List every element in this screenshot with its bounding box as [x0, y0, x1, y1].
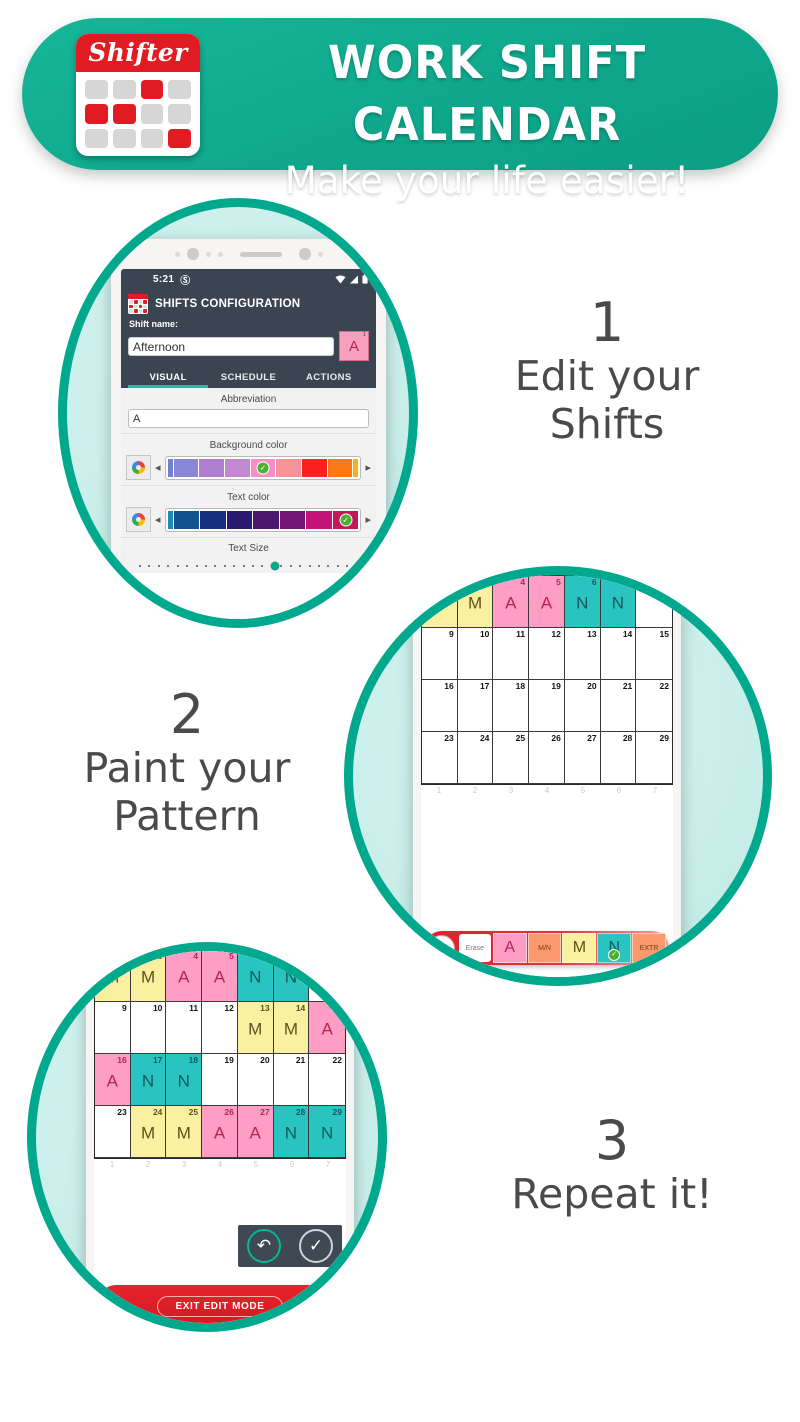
swatch[interactable]: [280, 511, 306, 529]
calendar-shift-abbr: A: [493, 593, 528, 613]
calendar-day-cell[interactable]: 26: [529, 732, 565, 784]
app-logo: Shifter: [76, 34, 200, 156]
calendar-shift-abbr: A: [309, 1019, 345, 1039]
palette-item-label: EXTR: [640, 945, 659, 952]
calendar-shift-abbr: A: [166, 967, 201, 987]
check-icon[interactable]: ✓: [299, 1229, 333, 1263]
text-color-label: Text color: [121, 492, 376, 503]
calendar-weekday-index: 1: [421, 786, 457, 795]
phone-frame-3: 2M3M4A5A6N7N8910111213M14M15A16A17N18N19…: [86, 942, 354, 1332]
calendar-day-number: 3: [158, 951, 163, 961]
calendar-weekday-index: 2: [130, 1160, 166, 1169]
calendar-shift-abbr: N: [238, 967, 273, 987]
scroll-left-icon[interactable]: ◂: [155, 513, 161, 526]
calendar-day-number: 19: [551, 681, 560, 691]
palette-item-label: A: [504, 939, 515, 957]
calendar-day-cell[interactable]: 8: [309, 950, 345, 1002]
calendar-day-number: 12: [551, 629, 560, 639]
chevron-down-icon[interactable]: ▾: [428, 935, 455, 962]
calendar-shift-abbr: N: [601, 593, 636, 613]
logo-calendar-grid: [76, 72, 200, 156]
calendar-day-cell[interactable]: 29N: [309, 1106, 345, 1158]
calendar-day-number: 10: [480, 629, 489, 639]
calendar-day-number: 22: [660, 681, 669, 691]
calendar-day-cell[interactable]: 15: [636, 628, 672, 680]
calendar-day-cell[interactable]: 27A: [238, 1106, 274, 1158]
sensor-dot-icon: [175, 252, 180, 257]
calendar-shift-abbr: M: [274, 1019, 309, 1039]
calendar-shift-abbr: A: [202, 1123, 237, 1143]
calendar-day-cell[interactable]: 16: [422, 680, 458, 732]
calendar-day-cell[interactable]: 7N: [274, 950, 310, 1002]
calendar-day-number: 23: [117, 1107, 126, 1117]
calendar-day-number: 23: [444, 733, 453, 743]
step-text-line2: Shifts: [452, 400, 762, 448]
calendar-day-number: 16: [444, 681, 453, 691]
calendar-day-cell[interactable]: 21: [274, 1054, 310, 1106]
calendar-day-number: 14: [296, 1003, 305, 1013]
calendar-day-number: 5: [229, 951, 234, 961]
calendar-weekday-index: 7: [310, 1160, 346, 1169]
calendar-day-cell[interactable]: 26A: [202, 1106, 238, 1158]
calendar-day-cell[interactable]: 12: [202, 1002, 238, 1054]
calendar-day-number: 13: [260, 1003, 269, 1013]
logo-cell: [141, 104, 164, 123]
calendar-day-number: 27: [587, 733, 596, 743]
swatch[interactable]: [306, 511, 332, 529]
calendar-day-number: 4: [520, 577, 525, 587]
calendar-day-cell[interactable]: 9: [422, 628, 458, 680]
phone-frame-2: 2M3M4A5A6N7N8910111213141516171819202122…: [413, 567, 681, 986]
calendar-day-number: 25: [189, 1107, 198, 1117]
calendar-week-footer-3: 1234567: [94, 1159, 346, 1169]
calendar-day-number: 19: [224, 1055, 233, 1065]
calendar-day-cell[interactable]: 17N: [131, 1054, 167, 1106]
text-size-slider[interactable]: [139, 561, 358, 570]
calendar-weekday-index: 6: [274, 1160, 310, 1169]
calendar-day-number: 17: [480, 681, 489, 691]
calendar-day-cell[interactable]: 6N: [565, 576, 601, 628]
app-logo-icon-grid: [128, 299, 148, 314]
calendar-day-number: 28: [296, 1107, 305, 1117]
calendar-day-number: 20: [587, 681, 596, 691]
calendar-day-number: 5: [556, 577, 561, 587]
background-swatch-strip[interactable]: ✓: [165, 456, 362, 480]
app-bar-row: SHIFTS CONFIGURATION: [128, 294, 369, 314]
calendar-day-number: 12: [224, 1003, 233, 1013]
calendar-day-number: 21: [296, 1055, 305, 1065]
abbreviation-input[interactable]: A: [128, 409, 369, 428]
calendar-day-number: 18: [516, 681, 525, 691]
swatch[interactable]: [199, 459, 224, 477]
check-icon: ✓: [256, 461, 269, 474]
swatch[interactable]: [174, 459, 199, 477]
calendar-day-number: 7: [301, 951, 306, 961]
exit-edit-mode-button[interactable]: EXIT EDIT MODE: [98, 1285, 342, 1327]
tab-schedule[interactable]: SCHEDULE: [208, 366, 288, 388]
calendar-weekday-index: 6: [601, 786, 637, 795]
logo-cell: [168, 129, 191, 148]
logo-cell: [168, 80, 191, 99]
calendar-day-number: 22: [333, 1055, 342, 1065]
calendar-shift-abbr: M: [422, 593, 457, 613]
calendar-day-number: 29: [660, 733, 669, 743]
logo-cell: [141, 129, 164, 148]
calendar-shift-abbr: M: [458, 593, 493, 613]
swatch-selected[interactable]: ✓: [251, 459, 276, 477]
text-size-panel: Text Size: [121, 538, 376, 573]
calendar-shift-abbr: M: [131, 967, 166, 987]
swatch[interactable]: [253, 511, 279, 529]
calendar-weekday-index: 2: [457, 786, 493, 795]
calendar-day-cell[interactable]: 2M: [422, 576, 458, 628]
battery-icon: [362, 274, 368, 284]
shift-name-label: Shift name:: [129, 319, 369, 329]
logo-cell: [168, 104, 191, 123]
calendar-shift-abbr: A: [202, 967, 237, 987]
calendar-day-cell[interactable]: 22: [636, 680, 672, 732]
calendar-shift-abbr: M: [95, 967, 130, 987]
header-banner: Shifter WORK SHIFT CALENDAR Make your li…: [22, 18, 778, 170]
calendar-day-cell[interactable]: 19: [529, 680, 565, 732]
tab-actions[interactable]: ACTIONS: [289, 366, 369, 388]
step-label-1: 1 Edit your Shifts: [452, 294, 762, 448]
logo-cell: [113, 80, 136, 99]
phone-notch: [111, 239, 386, 269]
calendar-week-footer-2: 1234567: [421, 785, 673, 795]
calendar-day-number: 11: [189, 1003, 198, 1013]
calendar-day-cell[interactable]: 12: [529, 628, 565, 680]
undo-icon[interactable]: ↶: [247, 1229, 281, 1263]
calendar-day-cell[interactable]: 11: [166, 1002, 202, 1054]
calendar-shift-abbr: A: [238, 1123, 273, 1143]
palette-item-label: M: [573, 939, 586, 957]
screenshot-circle-3: 2M3M4A5A6N7N8910111213M14M15A16A17N18N19…: [27, 942, 387, 1332]
swatch[interactable]: [225, 459, 250, 477]
palette-item-extr[interactable]: EXTR: [632, 933, 666, 963]
calendar-day-cell[interactable]: 24M: [131, 1106, 167, 1158]
calendar-shift-abbr: N: [166, 1071, 201, 1091]
palette-item-label: Erase: [466, 945, 484, 952]
calendar-day-cell[interactable]: 23: [422, 732, 458, 784]
calendar-day-number: 15: [333, 1003, 342, 1013]
calendar-day-number: 2: [449, 577, 454, 587]
calendar-day-cell[interactable]: 23: [95, 1106, 131, 1158]
calendar-day-number: 29: [333, 1107, 342, 1117]
shift-name-input[interactable]: Afternoon: [128, 337, 334, 356]
calendar-day-number: 16: [117, 1055, 126, 1065]
calendar-weekday-index: 1: [94, 1160, 130, 1169]
calendar-day-cell[interactable]: 10: [458, 628, 494, 680]
banner-title: WORK SHIFT CALENDAR: [229, 32, 745, 156]
calendar-shift-abbr: N: [131, 1071, 166, 1091]
front-camera-icon: [187, 248, 199, 260]
calendar-day-number: 7: [628, 577, 633, 587]
tab-bar: VISUAL SCHEDULE ACTIONS: [128, 366, 369, 388]
calendar-day-cell[interactable]: 17: [458, 680, 494, 732]
scroll-right-icon[interactable]: ▸: [365, 513, 371, 526]
calendar-day-number: 9: [449, 629, 454, 639]
screenshot-circle-2: 2M3M4A5A6N7N8910111213141516171819202122…: [344, 566, 772, 986]
sensor-dot-icon: [206, 252, 211, 257]
mute-icon: Ⓢ: [180, 272, 190, 287]
calendar-day-number: 9: [122, 1003, 127, 1013]
swatch[interactable]: [168, 511, 173, 529]
calendar-day-number: 26: [224, 1107, 233, 1117]
step-number: 3: [452, 1112, 772, 1170]
palette-item-n[interactable]: N✓: [597, 933, 631, 963]
step-text-line1: Repeat it!: [452, 1170, 772, 1218]
calendar-day-cell[interactable]: 13M: [238, 1002, 274, 1054]
calendar-day-cell[interactable]: 2M: [95, 950, 131, 1002]
sensor-dot-icon: [318, 252, 323, 257]
calendar-shift-abbr: M: [131, 1123, 166, 1143]
calendar-day-cell[interactable]: 3M: [131, 950, 167, 1002]
text-color-row: ◂ ✓ ▸: [121, 507, 376, 532]
swatch[interactable]: [276, 459, 301, 477]
slider-knob[interactable]: [270, 561, 279, 570]
text-size-label: Text Size: [121, 543, 376, 554]
color-wheel-icon: [132, 513, 145, 526]
phone-screen-3: 2M3M4A5A6N7N8910111213M14M15A16A17N18N19…: [94, 949, 346, 1332]
calendar-day-cell[interactable]: 15A: [309, 1002, 345, 1054]
calendar-weekday-index: 5: [565, 786, 601, 795]
calendar-day-cell[interactable]: 13: [565, 628, 601, 680]
calendar-shift-abbr: M: [238, 1019, 273, 1039]
calendar-shift-abbr: N: [309, 1123, 345, 1143]
wifi-icon: [335, 275, 346, 284]
swatch[interactable]: [200, 511, 226, 529]
phone-screen-2: 2M3M4A5A6N7N8910111213141516171819202122…: [421, 575, 673, 979]
calendar-day-number: 10: [153, 1003, 162, 1013]
calendar-day-cell[interactable]: 18N: [166, 1054, 202, 1106]
calendar-day-number: 8: [664, 577, 669, 587]
calendar-day-cell[interactable]: 8: [636, 576, 672, 628]
calendar-day-cell[interactable]: 5A: [529, 576, 565, 628]
promo-page: Shifter WORK SHIFT CALENDAR Make your li…: [0, 0, 800, 1422]
calendar-day-number: 2: [122, 951, 127, 961]
calendar-day-cell[interactable]: 27: [565, 732, 601, 784]
calendar-day-number: 24: [153, 1107, 162, 1117]
logo-cell: [85, 80, 108, 99]
calendar-day-number: 6: [592, 577, 597, 587]
palette-item-a[interactable]: A: [493, 933, 527, 963]
page-title: SHIFTS CONFIGURATION: [155, 298, 300, 310]
palette-item-m[interactable]: M: [562, 933, 596, 963]
calendar-shift-abbr: M: [166, 1123, 201, 1143]
swatch[interactable]: [227, 511, 253, 529]
calendar-day-number: 21: [623, 681, 632, 691]
shift-preview-chip[interactable]: A 1: [339, 331, 369, 361]
phone-screen-1: 5:21 Ⓢ: [121, 269, 376, 628]
edit-action-bar: ↶ ✓: [238, 1225, 342, 1267]
calendar-day-cell[interactable]: 11: [493, 628, 529, 680]
background-color-panel: Background color ◂ ✓: [121, 434, 376, 486]
earpiece-speaker-icon: [240, 252, 282, 257]
scroll-left-icon[interactable]: ◂: [155, 461, 161, 474]
calendar-day-cell[interactable]: 22: [309, 1054, 345, 1106]
calendar-day-number: 27: [260, 1107, 269, 1117]
abbreviation-panel: Abbreviation A: [121, 388, 376, 434]
calendar-day-number: 20: [260, 1055, 269, 1065]
check-icon: ✓: [608, 949, 620, 961]
calendar-day-cell[interactable]: 4A: [166, 950, 202, 1002]
sensor-dot-icon: [299, 248, 311, 260]
calendar-day-cell[interactable]: 20: [565, 680, 601, 732]
banner-text-block: WORK SHIFT CALENDAR Make your life easie…: [218, 32, 756, 206]
calendar-day-cell[interactable]: 10: [131, 1002, 167, 1054]
swatch[interactable]: [174, 511, 200, 529]
calendar-day-number: 15: [660, 629, 669, 639]
exit-edit-mode-label: EXIT EDIT MODE: [157, 1296, 284, 1317]
calendar-day-number: 17: [153, 1055, 162, 1065]
calendar-day-cell[interactable]: 16A: [95, 1054, 131, 1106]
calendar-day-cell[interactable]: 25M: [166, 1106, 202, 1158]
calendar-shift-abbr: A: [95, 1071, 130, 1091]
logo-cell: [141, 80, 164, 99]
background-color-label: Background color: [121, 440, 376, 451]
calendar-shift-abbr: N: [274, 967, 309, 987]
step-text-line1: Edit your: [452, 352, 762, 400]
tab-visual[interactable]: VISUAL: [128, 366, 208, 388]
calendar-day-cell[interactable]: 5A: [202, 950, 238, 1002]
slider-ticks: [139, 561, 358, 570]
calendar-day-cell[interactable]: 25: [493, 732, 529, 784]
calendar-day-cell[interactable]: 19: [202, 1054, 238, 1106]
logo-wordmark: Shifter: [76, 34, 200, 72]
status-bar: 5:21 Ⓢ: [121, 269, 376, 289]
calendar-day-cell[interactable]: 7N: [601, 576, 637, 628]
calendar-day-number: 24: [480, 733, 489, 743]
shift-name-row: Afternoon A 1: [128, 331, 369, 366]
calendar-day-cell[interactable]: 14: [601, 628, 637, 680]
palette-item-m-n[interactable]: M/N: [528, 933, 562, 963]
calendar-day-cell[interactable]: 20: [238, 1054, 274, 1106]
color-wheel-icon: [132, 461, 145, 474]
logo-cell: [113, 104, 136, 123]
text-color-wheel-button[interactable]: [126, 507, 151, 532]
banner-subtitle: Make your life easier!: [218, 156, 756, 206]
palette-item-label: M/N: [538, 945, 551, 952]
calendar-day-cell[interactable]: 24: [458, 732, 494, 784]
palette-items[interactable]: EraseAM/NMN✓EXTR: [458, 933, 666, 963]
step-number: 1: [452, 294, 762, 352]
calendar-day-cell[interactable]: 3M: [458, 576, 494, 628]
calendar-weekday-index: 3: [166, 1160, 202, 1169]
calendar-day-cell[interactable]: 9: [95, 1002, 131, 1054]
shift-chip-letter: A: [349, 338, 359, 355]
text-color-panel: Text color ◂: [121, 486, 376, 538]
calendar-shift-abbr: N: [565, 593, 600, 613]
calendar-day-cell[interactable]: 29: [636, 732, 672, 784]
status-time: 5:21: [153, 274, 174, 285]
step-text-line1: Paint your: [32, 744, 342, 792]
calendar-shift-abbr: N: [274, 1123, 309, 1143]
text-swatch-strip[interactable]: ✓: [165, 508, 362, 532]
calendar-day-cell[interactable]: 21: [601, 680, 637, 732]
calendar-day-number: 14: [623, 629, 632, 639]
palette-item-erase[interactable]: Erase: [458, 933, 492, 963]
logo-cell: [85, 129, 108, 148]
calendar-day-number: 11: [516, 629, 525, 639]
logo-cell: [113, 129, 136, 148]
calendar-day-number: 25: [516, 733, 525, 743]
step-text-line2: Pattern: [32, 792, 342, 840]
calendar-shift-abbr: A: [529, 593, 564, 613]
logo-cell: [85, 104, 108, 123]
shift-palette-bar[interactable]: ▾ EraseAM/NMN✓EXTR: [425, 931, 669, 965]
calendar-day-number: 13: [587, 629, 596, 639]
step-label-2: 2 Paint your Pattern: [32, 686, 342, 840]
screenshot-circle-1: 5:21 Ⓢ: [58, 198, 418, 628]
background-color-row: ◂ ✓: [121, 455, 376, 480]
swatch-selected[interactable]: ✓: [333, 511, 359, 529]
background-color-wheel-button[interactable]: [126, 455, 151, 480]
calendar-day-cell[interactable]: 28N: [274, 1106, 310, 1158]
swatch[interactable]: [302, 459, 327, 477]
calendar-day-number: 4: [193, 951, 198, 961]
swatch[interactable]: [328, 459, 353, 477]
calendar-day-number: 8: [337, 951, 342, 961]
calendar-weekday-index: 3: [493, 786, 529, 795]
step-number: 2: [32, 686, 342, 744]
calendar-day-cell[interactable]: 4A: [493, 576, 529, 628]
calendar-day-number: 28: [623, 733, 632, 743]
calendar-day-cell[interactable]: 28: [601, 732, 637, 784]
calendar-weekday-index: 4: [202, 1160, 238, 1169]
step-label-3: 3 Repeat it!: [452, 1112, 772, 1218]
swatch[interactable]: [168, 459, 173, 477]
phone-frame-1: 5:21 Ⓢ: [111, 239, 386, 628]
abbreviation-label: Abbreviation: [121, 394, 376, 405]
scroll-right-icon[interactable]: ▸: [365, 461, 371, 474]
shift-chip-superscript: 1: [363, 332, 366, 338]
calendar-day-cell[interactable]: 14M: [274, 1002, 310, 1054]
app-bar: SHIFTS CONFIGURATION Shift name: Afterno…: [121, 289, 376, 388]
calendar-day-number: 3: [485, 577, 490, 587]
calendar-weekday-index: 7: [637, 786, 673, 795]
calendar-day-number: 26: [551, 733, 560, 743]
check-icon: ✓: [339, 513, 352, 526]
calendar-weekday-index: 5: [238, 1160, 274, 1169]
swatch[interactable]: [353, 459, 358, 477]
calendar-day-cell[interactable]: 18: [493, 680, 529, 732]
calendar-grid-2[interactable]: 2M3M4A5A6N7N8910111213141516171819202122…: [421, 575, 673, 785]
status-icons: [335, 274, 368, 284]
sensor-dot-icon: [218, 252, 223, 257]
signal-icon: [349, 275, 359, 284]
calendar-day-number: 6: [265, 951, 270, 961]
calendar-day-number: 18: [189, 1055, 198, 1065]
calendar-weekday-index: 4: [529, 786, 565, 795]
app-logo-icon: [128, 294, 148, 314]
calendar-grid-3[interactable]: 2M3M4A5A6N7N8910111213M14M15A16A17N18N19…: [94, 949, 346, 1159]
calendar-day-cell[interactable]: 6N: [238, 950, 274, 1002]
